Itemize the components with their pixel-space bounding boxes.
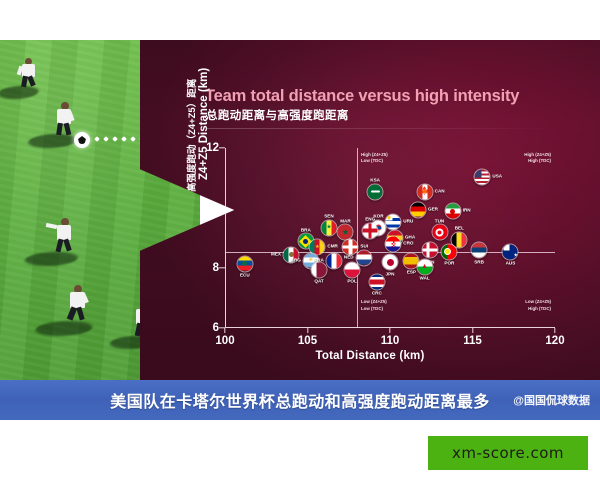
flag-icon-por [441, 243, 458, 260]
data-point-srb: SRB [471, 242, 488, 259]
flag-icon-wal: ▲ [416, 258, 433, 275]
letterbox-top [0, 0, 600, 40]
data-point-label: POL [347, 279, 356, 284]
data-point-aus: ★AUS [502, 243, 519, 260]
x-axis-tick-mark [472, 328, 473, 333]
flag-icon-tun [431, 224, 448, 241]
chart-title-cn: 总跑动距离与高强度跑距离 [206, 107, 349, 123]
x-axis-tick-label: 120 [545, 335, 564, 347]
flag-icon-ger [410, 201, 427, 218]
data-point-usa: USA [474, 168, 491, 185]
data-point-label: QAT [314, 279, 323, 284]
data-point-qat: QAT [311, 261, 328, 278]
data-point-uru: URU [385, 213, 402, 230]
x-axis-tick-label: 115 [463, 335, 482, 347]
data-point-label: ECU [240, 273, 250, 278]
flag-icon-usa [474, 168, 491, 185]
data-point-label: IRN [463, 208, 471, 213]
data-point-label: USA [492, 173, 502, 178]
data-point-label: ESP [407, 270, 416, 275]
data-point-crc: CRC [368, 273, 385, 290]
flag-icon-crc [368, 273, 385, 290]
x-axis-tick-label: 105 [298, 335, 317, 347]
y-axis-tick-label: 10 [206, 202, 219, 214]
data-point-label: POR [444, 261, 454, 266]
flag-icon-ecu [236, 255, 253, 272]
x-axis-tick-label: 110 [381, 335, 400, 347]
video-frame: Team total distance versus high intensit… [0, 40, 600, 380]
flag-icon-jpn [382, 254, 399, 271]
x-axis-label: Total Distance (km) [140, 350, 600, 362]
data-point-label: JPN [386, 271, 395, 276]
quadrant-annotation-bottom-right: Low (Z4+Z5)High (TDC) [525, 299, 551, 312]
data-point-label: SUI [360, 244, 368, 249]
flag-icon-eng [362, 222, 379, 239]
data-point-irn: IRN [444, 203, 461, 220]
data-point-label: URU [403, 218, 413, 223]
data-point-pol: POL [344, 261, 361, 278]
flag-icon-uru [385, 213, 402, 230]
flag-icon-aus: ★ [502, 243, 519, 260]
data-point-label: CMR [327, 244, 337, 249]
y-axis-tick-label: 12 [206, 142, 219, 154]
watermark-text: @国国侃球数据 [513, 392, 590, 408]
data-point-label: KSA [370, 178, 380, 183]
data-point-label: ENG [365, 217, 375, 222]
caption-text: 美国队在卡塔尔世界杯总跑动和高强度跑动距离最多 [110, 388, 490, 412]
y-axis-label-en: Z4+Z5 Distance (km) [198, 68, 210, 180]
data-point-can: 🍁CAN [416, 183, 433, 200]
x-axis-tick-mark [554, 328, 555, 333]
data-point-eng: ENG [362, 222, 379, 239]
quadrant-annotation-top-left: High (Z4+Z5)Low (TDC) [361, 152, 388, 165]
ball-trail [95, 137, 144, 141]
site-logo-text: xm-score.com [452, 444, 564, 462]
data-point-sen: ★SEN [320, 219, 337, 236]
data-point-label: CRO [403, 241, 413, 246]
x-axis-tick-label: 100 [215, 335, 234, 347]
data-point-den: DEN [421, 242, 438, 259]
data-point-label: AUS [506, 261, 516, 266]
y-axis-tick-mark [219, 147, 225, 148]
data-point-label: GHA [405, 235, 415, 240]
data-point-label: WAL [420, 276, 430, 281]
flag-icon-can: 🍁 [416, 183, 433, 200]
quadrant-annotation-bottom-left: Low (Z4+Z5)Low (TDC) [361, 299, 387, 312]
flag-icon-irn [444, 203, 461, 220]
flag-icon-pol [344, 261, 361, 278]
flag-icon-fra [325, 252, 342, 269]
data-point-tun: TUN [431, 224, 448, 241]
data-point-label: MAR [340, 218, 350, 223]
y-axis-label-cn: 高强度跑动（Z4+Z5）距离 [184, 79, 198, 192]
site-logo-badge[interactable]: xm-score.com [428, 436, 588, 470]
data-point-ecu: ECU [236, 255, 253, 272]
title-divider [206, 128, 558, 129]
data-point-label: MEX [271, 251, 281, 256]
flag-icon-ksa [367, 183, 384, 200]
data-point-label: ARG [291, 257, 301, 262]
data-point-label: BRA [301, 227, 311, 232]
flag-icon-cro [385, 236, 402, 253]
scatter-plot-area: 681012100105110115120High (Z4+Z5)Low (TD… [225, 148, 555, 328]
chart-panel: Team total distance versus high intensit… [140, 40, 600, 380]
data-point-label: BEL [455, 226, 464, 231]
data-point-label: SRB [474, 259, 484, 264]
data-point-label: CAN [435, 188, 445, 193]
flag-icon-srb [471, 242, 488, 259]
flag-icon-qat [311, 261, 328, 278]
soccer-ball-icon [74, 132, 90, 148]
data-point-label: NED [344, 254, 354, 259]
flag-icon-sen: ★ [320, 219, 337, 236]
data-point-label: TUN [435, 218, 444, 223]
x-axis-tick-mark [389, 328, 390, 333]
data-point-label: GER [428, 206, 438, 211]
x-axis-tick-mark [224, 328, 225, 333]
data-point-wal: ▲WAL [416, 258, 433, 275]
y-axis-tick-mark [219, 267, 225, 268]
x-axis-tick-mark [307, 328, 308, 333]
y-axis-line [225, 148, 226, 328]
data-point-cro: CRO [385, 236, 402, 253]
data-point-por: POR [441, 243, 458, 260]
y-axis-tick-mark [219, 207, 225, 208]
data-point-ksa: KSA [367, 183, 384, 200]
data-point-label: CRC [372, 291, 382, 296]
caption-bar: 美国队在卡塔尔世界杯总跑动和高强度跑动距离最多 @国国侃球数据 [0, 380, 600, 420]
data-point-label: SEN [324, 214, 333, 219]
data-point-ger: GER [410, 201, 427, 218]
flag-icon-den [421, 242, 438, 259]
chart-title-en: Team total distance versus high intensit… [205, 87, 585, 106]
screenshot-root: Team total distance versus high intensit… [0, 0, 600, 480]
data-point-jpn: JPN [382, 254, 399, 271]
quadrant-annotation-top-right: High (Z4+Z5)High (TDC) [524, 152, 551, 165]
data-point-fra: FRA [325, 252, 342, 269]
